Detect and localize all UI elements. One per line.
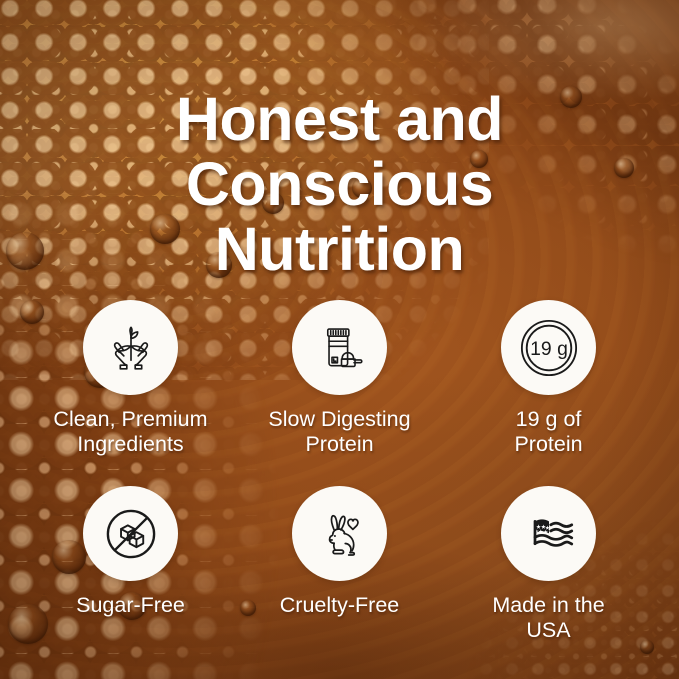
product-feature-graphic: Honest and Conscious Nutrition: [0, 0, 679, 679]
icon-circle: [292, 486, 387, 581]
feature-made-in-usa: Made in the USA: [444, 486, 653, 672]
icon-circle: [83, 486, 178, 581]
feature-cruelty-free: Cruelty-Free: [235, 486, 444, 672]
title-line-1: Honest and: [22, 87, 657, 152]
protein-grams-badge-icon: 19 g: [518, 317, 580, 379]
feature-label: Cruelty-Free: [280, 593, 399, 618]
feature-label: Clean, Premium Ingredients: [53, 407, 207, 458]
feature-sugar-free: Sugar-Free: [26, 486, 235, 672]
feature-label: Slow Digesting Protein: [268, 407, 410, 458]
feature-slow-digesting-protein: Slow Digesting Protein: [235, 300, 444, 486]
hands-holding-plant-icon: [103, 320, 159, 376]
icon-circle: [501, 486, 596, 581]
title-line-2: Conscious: [22, 152, 657, 217]
feature-grid: Clean, Premium Ingredients: [26, 300, 653, 672]
icon-circle: [83, 300, 178, 395]
rabbit-heart-icon: [311, 505, 369, 563]
badge-value: 19 g: [530, 337, 568, 359]
feature-label: 19 g of Protein: [514, 407, 582, 458]
icon-circle: [292, 300, 387, 395]
feature-label: Sugar-Free: [76, 593, 185, 618]
feature-label: Made in the USA: [492, 593, 604, 644]
feature-clean-premium-ingredients: Clean, Premium Ingredients: [26, 300, 235, 486]
usa-flag-icon: [521, 506, 577, 562]
title-line-3: Nutrition: [22, 217, 657, 282]
page-title: Honest and Conscious Nutrition: [0, 87, 679, 283]
protein-jar-scoop-icon: [313, 321, 367, 375]
feature-protein-grams: 19 g 19 g of Protein: [444, 300, 653, 486]
icon-circle: 19 g: [501, 300, 596, 395]
no-sugar-cubes-icon: [102, 505, 160, 563]
